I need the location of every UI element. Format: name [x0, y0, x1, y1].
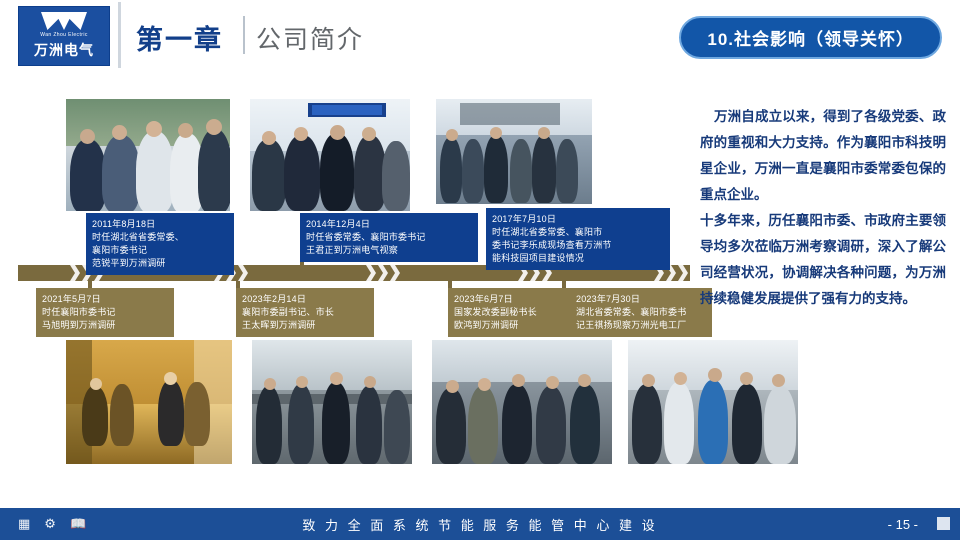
caption-line2: 襄阳市委副书记、市长	[242, 306, 368, 319]
caption-2014: 2014年12月4日 时任省委常委、襄阳市委书记 王君正到万洲电气视察	[300, 213, 478, 262]
caption-date: 2023年2月14日	[242, 293, 368, 306]
caption-2023-07: 2023年7月30日 湖北省委常委、襄阳市委书 记王祺扬现察万洲光电工厂	[570, 288, 712, 337]
photo-leader-visit-2011	[66, 99, 230, 211]
logo-pinyin: Wan Zhou Electric	[40, 32, 87, 38]
timeline-arrow-icon	[390, 265, 401, 281]
caption-2011: 2011年8月18日 时任湖北省省委常委、 襄阳市委书记 范锐平到万洲调研	[86, 213, 234, 275]
caption-line3: 记王祺扬现察万洲光电工厂	[576, 319, 706, 332]
caption-line4: 范锐平到万洲调研	[92, 257, 228, 270]
timeline-arrow-icon	[378, 265, 389, 281]
timeline-arrow-icon	[366, 265, 377, 281]
footer-square-icon	[937, 517, 950, 530]
caption-line3: 襄阳市委书记	[92, 244, 228, 257]
caption-line3: 王太晖到万洲调研	[242, 319, 368, 332]
photo-leader-visit-2023-06	[432, 340, 612, 464]
company-logo: Wan Zhou Electric 万洲电气	[18, 6, 110, 66]
caption-line3: 王君正到万洲电气视察	[306, 244, 472, 257]
caption-line4: 能科技园项目建设情况	[492, 252, 664, 265]
caption-2023-02: 2023年2月14日 襄阳市委副书记、市长 王太晖到万洲调研	[236, 288, 374, 337]
photo-leader-visit-2017	[436, 99, 592, 204]
caption-line2: 湖北省委常委、襄阳市委书	[576, 306, 706, 319]
caption-line3: 马旭明到万洲调研	[42, 319, 168, 332]
body-text: 万洲自成立以来，得到了各级党委、政府的重视和大力支持。作为襄阳市科技明星企业，万…	[700, 104, 946, 312]
w-logo-icon	[41, 12, 87, 30]
caption-2023-06: 2023年6月7日 国家发改委副秘书长 欧鸿到万洲调研	[448, 288, 582, 337]
header-divider	[118, 2, 121, 68]
timeline-arrow-icon	[678, 265, 689, 281]
page-number: - 15 -	[888, 508, 918, 540]
caption-date: 2023年7月30日	[576, 293, 706, 306]
caption-date: 2023年6月7日	[454, 293, 576, 306]
caption-line3: 委书记李乐成现场查看万洲节	[492, 239, 664, 252]
chapter-subtitle: 公司简介	[256, 20, 364, 56]
caption-2017: 2017年7月10日 时任湖北省委常委、襄阳市 委书记李乐成现场查看万洲节 能科…	[486, 208, 670, 270]
logo-company-name: 万洲电气	[34, 40, 94, 60]
caption-line2: 时任湖北省省委常委、	[92, 231, 228, 244]
photo-leader-visit-2023-07	[628, 340, 798, 464]
caption-line2: 时任襄阳市委书记	[42, 306, 168, 319]
photo-leader-visit-2014	[250, 99, 410, 211]
section-title-badge: 10.社会影响（领导关怀）	[679, 16, 942, 59]
timeline-arrow-icon	[238, 265, 249, 281]
caption-date: 2017年7月10日	[492, 213, 664, 226]
caption-2021: 2021年5月7日 时任襄阳市委书记 马旭明到万洲调研	[36, 288, 174, 337]
chapter-separator	[243, 16, 245, 54]
caption-date: 2014年12月4日	[306, 218, 472, 231]
page-header: Wan Zhou Electric 万洲电气 第一章 公司简介 10.社会影响（…	[0, 0, 960, 72]
caption-line2: 国家发改委副秘书长	[454, 306, 576, 319]
caption-date: 2011年8月18日	[92, 218, 228, 231]
caption-line3: 欧鸿到万洲调研	[454, 319, 576, 332]
photo-leader-visit-2023-02	[252, 340, 412, 464]
body-paragraph-1: 万洲自成立以来，得到了各级党委、政府的重视和大力支持。作为襄阳市科技明星企业，万…	[700, 104, 946, 208]
timeline-arrow-icon	[70, 265, 81, 281]
caption-line2: 时任湖北省委常委、襄阳市	[492, 226, 664, 239]
footer-slogan: 致 力 全 面 系 统 节 能 服 务 能 管 中 心 建 设	[0, 508, 960, 540]
caption-line2: 时任省委常委、襄阳市委书记	[306, 231, 472, 244]
body-paragraph-2: 十多年来，历任襄阳市委、市政府主要领导均多次莅临万洲考察调研，深入了解公司经营状…	[700, 208, 946, 312]
page-footer: ▦ ⚙ 📖 致 力 全 面 系 统 节 能 服 务 能 管 中 心 建 设 - …	[0, 508, 960, 540]
photo-leader-visit-2021	[66, 340, 232, 464]
caption-date: 2021年5月7日	[42, 293, 168, 306]
chapter-title: 第一章	[136, 18, 223, 57]
